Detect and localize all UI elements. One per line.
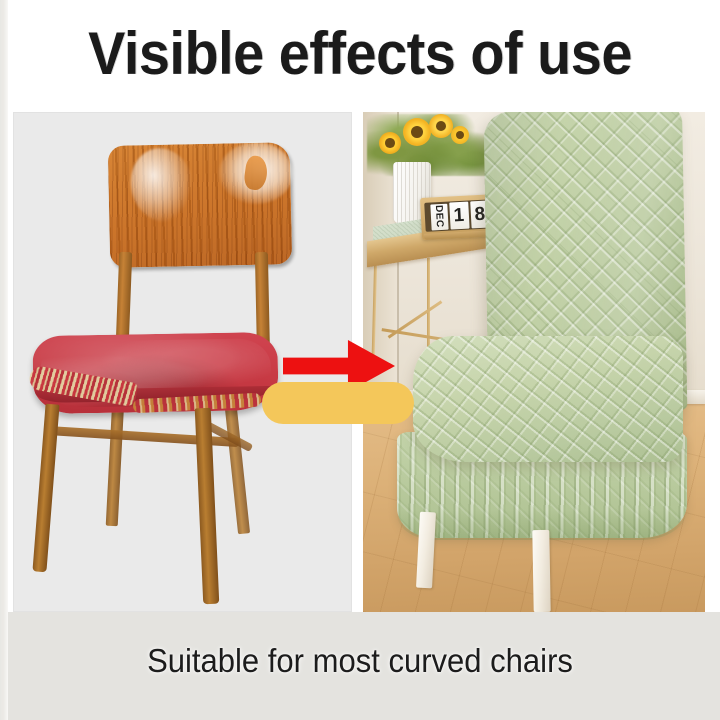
calendar-month: DEC	[430, 203, 448, 230]
page-title: Visible effects of use	[25, 18, 695, 90]
room-scene: DEC 1 8	[363, 112, 705, 612]
after-panel: DEC 1 8	[363, 112, 705, 612]
covered-chair-leg-front-center	[532, 530, 550, 612]
sunflower-icon	[429, 114, 453, 138]
yellow-pill-badge	[262, 382, 414, 424]
product-comparison-image: Visible effects of use	[0, 0, 720, 720]
calendar-day-tens: 1	[449, 202, 469, 230]
footer-caption: Suitable for most curved chairs	[22, 640, 699, 682]
left-edge-strip	[0, 0, 8, 720]
chair-leg-back-left	[106, 400, 125, 526]
sunflower-icon	[403, 118, 431, 146]
chair-leg-back-right	[224, 398, 250, 535]
covered-chair-seat	[413, 336, 683, 462]
sunflower-icon	[451, 126, 469, 144]
chair-leg-front-left	[32, 404, 59, 573]
sunflower-icon	[379, 132, 401, 154]
